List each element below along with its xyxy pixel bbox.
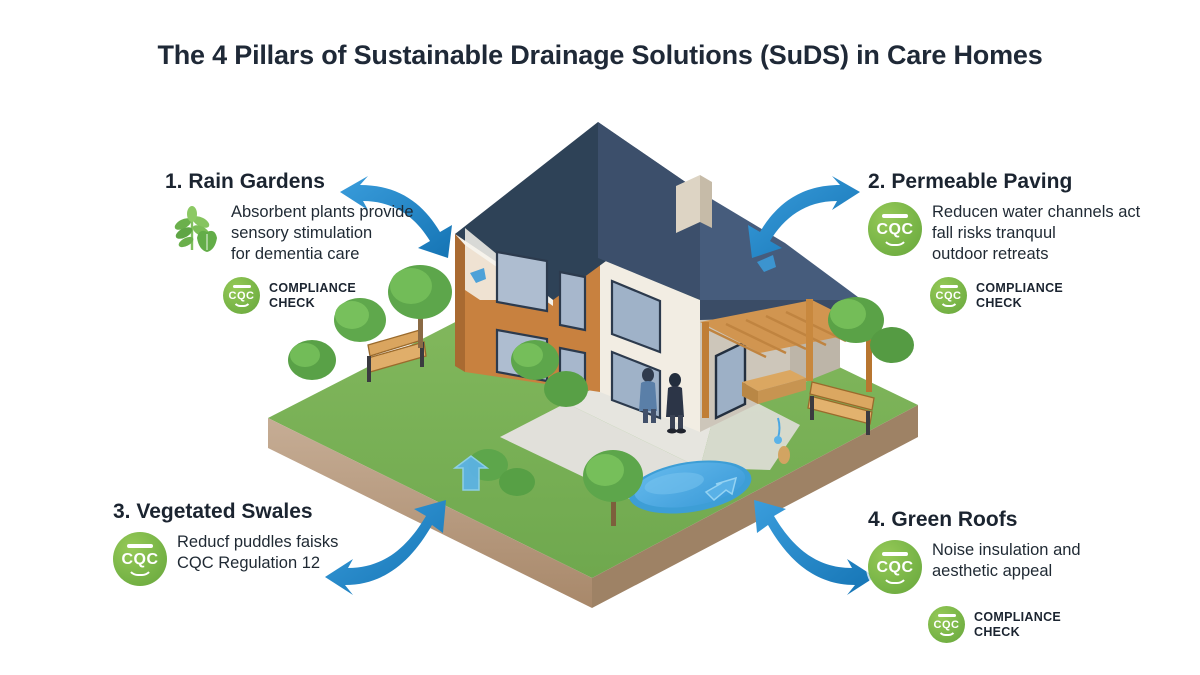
compliance-check-4[interactable]: CQC COMPLIANCE CHECK — [928, 606, 1081, 643]
cqc-badge-icon: CQC — [868, 540, 922, 594]
pillar-2-heading: 2. Permeable Paving — [868, 170, 1140, 194]
windows-right — [716, 342, 745, 418]
pillar-1-heading: 1. Rain Gardens — [165, 170, 414, 194]
cqc-badge-icon: CQC — [223, 277, 260, 314]
pillar-3-description: Reducf puddles faisks CQC Regulation 12 — [177, 532, 338, 574]
infographic-canvas: The 4 Pillars of Sustainable Drainage So… — [0, 0, 1200, 675]
pillar-1-description: Absorbent plants provide sensory stimula… — [231, 202, 414, 265]
cqc-badge-icon: CQC — [113, 532, 167, 586]
pillar-3-heading: 3. Vegetated Swales — [113, 500, 338, 524]
cqc-badge-icon: CQC — [928, 606, 965, 643]
pillar-permeable-paving[interactable]: 2. Permeable Paving CQC Reducen water ch… — [868, 170, 1140, 314]
cqc-badge-icon: CQC — [868, 202, 922, 256]
cqc-badge-icon: CQC — [930, 277, 967, 314]
leaf-plant-icon — [165, 198, 221, 254]
arrow-top-right — [748, 176, 860, 258]
compliance-check-1[interactable]: CQC COMPLIANCE CHECK — [223, 277, 414, 314]
compliance-check-label: COMPLIANCE CHECK — [974, 610, 1061, 640]
compliance-check-2[interactable]: CQC COMPLIANCE CHECK — [930, 277, 1140, 314]
compliance-check-label: COMPLIANCE CHECK — [976, 281, 1063, 311]
arrow-bottom-right — [754, 500, 875, 595]
pillar-green-roofs[interactable]: 4. Green Roofs CQC Noise insulation and … — [868, 508, 1081, 643]
pillar-4-description: Noise insulation and aesthetic appeal — [932, 540, 1081, 582]
arrow-bottom-left — [325, 500, 446, 595]
pillar-2-description: Reducen water channels act fall risks tr… — [932, 202, 1140, 265]
compliance-check-label: COMPLIANCE CHECK — [269, 281, 356, 311]
pillar-vegetated-swales[interactable]: 3. Vegetated Swales CQC Reducf puddles f… — [113, 500, 338, 586]
pillar-4-heading: 4. Green Roofs — [868, 508, 1081, 532]
pillar-rain-gardens[interactable]: 1. Rain Gardens — [165, 170, 414, 314]
